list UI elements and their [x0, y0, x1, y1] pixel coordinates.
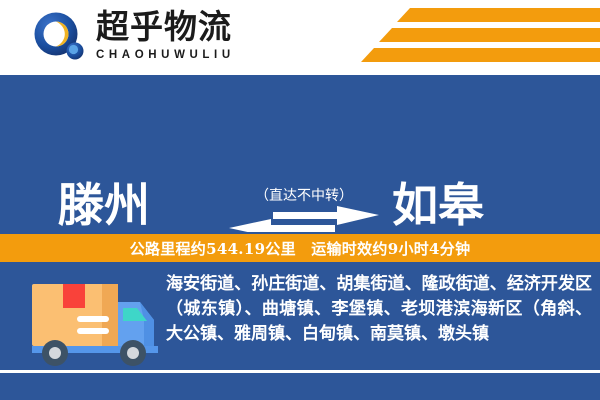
coverage-areas-text: 海安街道、孙庄街道、胡集街道、隆政街道、经济开发区（城东镇）、曲塘镇、李堡镇、老… [166, 272, 592, 347]
origin-city: 滕州 [58, 179, 150, 231]
route-info-bar: 公路里程约544.19公里 运输时效约9小时4分钟 [0, 232, 600, 264]
delivery-truck-icon [28, 278, 166, 370]
footer-divider [0, 370, 600, 373]
route-panel: 滕州 （直达不中转） 【往返运输】 如皋 [0, 75, 600, 230]
header: 超乎物流 CHAOHUWULIU [0, 0, 600, 72]
brand-name-en: CHAOHUWULIU [96, 48, 286, 62]
orange-speed-stripes-icon [350, 8, 600, 66]
circular-q-logo-icon [32, 11, 88, 63]
brand-wordmark: 超乎物流 CHAOHUWULIU [96, 8, 286, 62]
brand-name-cn: 超乎物流 [96, 8, 286, 46]
logistics-route-banner: 超乎物流 CHAOHUWULIU 滕州 （直达不中转） 【往返运输】 如皋 [0, 0, 600, 400]
distance-and-duration-text: 公路里程约544.19公里 运输时效约9小时4分钟 [130, 238, 471, 259]
destination-city: 如皋 [392, 179, 484, 231]
direct-route-note: （直达不中转） [228, 187, 380, 205]
